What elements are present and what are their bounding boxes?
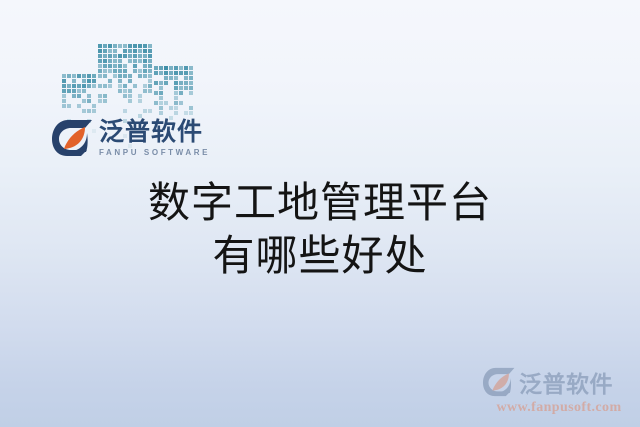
skyline-pixel	[108, 44, 112, 48]
skyline-pixel	[143, 69, 147, 73]
skyline-pixel	[128, 94, 132, 98]
skyline-pixel	[62, 104, 66, 108]
skyline-pixel	[103, 94, 107, 98]
brand-name-cn: 泛普软件	[99, 120, 210, 145]
skyline-pixel	[159, 86, 163, 90]
skyline-pixel	[123, 49, 127, 53]
skyline-pixel	[113, 74, 117, 78]
skyline-pixel	[143, 89, 147, 93]
skyline-pixel	[174, 71, 178, 75]
skyline-pixel	[148, 69, 152, 73]
skyline-pixel	[148, 79, 152, 83]
skyline-pixel	[133, 84, 137, 88]
skyline-pixel	[138, 49, 142, 53]
skyline-pixel	[72, 79, 76, 83]
skyline-pixel	[179, 81, 183, 85]
skyline-pixel	[154, 66, 158, 70]
skyline-pixel	[123, 89, 127, 93]
skyline-pixel	[148, 84, 152, 88]
skyline-pixel	[174, 66, 178, 70]
skyline-pixel	[82, 84, 86, 88]
skyline-pixel	[118, 54, 122, 58]
skyline-pixel	[138, 99, 142, 103]
skyline-pixel	[128, 79, 132, 83]
fanpu-logo-mark-icon	[52, 119, 94, 157]
skyline-pixel	[103, 54, 107, 58]
skyline-pixel	[133, 69, 137, 73]
skyline-pixel	[169, 71, 173, 75]
skyline-pixel	[62, 84, 66, 88]
skyline-pixel	[143, 54, 147, 58]
skyline-pixel	[159, 96, 163, 100]
skyline-pixel	[128, 44, 132, 48]
skyline-pixel	[128, 54, 132, 58]
skyline-pixel	[118, 84, 122, 88]
skyline-pixel	[92, 104, 96, 108]
skyline-pixel	[67, 84, 71, 88]
skyline-pixel	[174, 91, 178, 95]
skyline-pixel	[174, 76, 178, 80]
skyline-pixel	[98, 99, 102, 103]
skyline-pixel	[103, 99, 107, 103]
skyline-pixel	[189, 111, 193, 115]
skyline-pixel	[118, 44, 122, 48]
skyline-pixel	[148, 44, 152, 48]
skyline-pixel	[113, 54, 117, 58]
watermark-brand-name: 泛普软件	[519, 365, 613, 399]
skyline-pixel	[128, 59, 132, 63]
skyline-pixel	[118, 74, 122, 78]
page-title: 数字工地管理平台 有哪些好处	[0, 178, 640, 284]
skyline-pixel	[184, 71, 188, 75]
skyline-pixel	[133, 49, 137, 53]
skyline-pixel	[108, 69, 112, 73]
skyline-pixel	[148, 59, 152, 63]
skyline-pixel	[133, 64, 137, 68]
slide-canvas: 泛普软件 FANPU SOFTWARE 数字工地管理平台 有哪些好处 泛普软件 …	[0, 0, 640, 427]
skyline-pixel	[189, 81, 193, 85]
skyline-pixel	[92, 84, 96, 88]
skyline-pixel	[169, 66, 173, 70]
skyline-pixel	[174, 96, 178, 100]
pixel-city-skyline-icon	[62, 44, 182, 126]
skyline-pixel	[108, 84, 112, 88]
skyline-pixel	[62, 94, 66, 98]
skyline-pixel	[62, 89, 66, 93]
skyline-pixel	[189, 91, 193, 95]
skyline-pixel	[87, 109, 91, 113]
skyline-pixel	[113, 49, 117, 53]
skyline-pixel	[133, 44, 137, 48]
skyline-pixel	[118, 59, 122, 63]
skyline-pixel	[77, 74, 81, 78]
skyline-pixel	[98, 94, 102, 98]
skyline-pixel	[113, 44, 117, 48]
skyline-pixel	[87, 84, 91, 88]
skyline-pixel	[159, 81, 163, 85]
skyline-pixel	[128, 99, 132, 103]
skyline-pixel	[128, 49, 132, 53]
skyline-pixel	[138, 59, 142, 63]
skyline-pixel	[143, 49, 147, 53]
skyline-pixel	[138, 94, 142, 98]
skyline-pixel	[164, 81, 168, 85]
page-title-line-1: 数字工地管理平台	[0, 178, 640, 231]
skyline-pixel	[128, 89, 132, 93]
skyline-pixel	[123, 74, 127, 78]
skyline-pixel	[118, 79, 122, 83]
skyline-pixel	[123, 44, 127, 48]
skyline-pixel	[72, 94, 76, 98]
skyline-pixel	[62, 79, 66, 83]
skyline-pixel	[159, 111, 163, 115]
skyline-pixel	[179, 86, 183, 90]
skyline-pixel	[92, 109, 96, 113]
skyline-pixel	[154, 101, 158, 105]
skyline-pixel	[118, 69, 122, 73]
skyline-pixel	[92, 79, 96, 83]
skyline-pixel	[87, 74, 91, 78]
skyline-pixel	[159, 101, 163, 105]
skyline-pixel	[128, 74, 132, 78]
skyline-pixel	[118, 89, 122, 93]
skyline-pixel	[179, 71, 183, 75]
skyline-pixel	[98, 44, 102, 48]
skyline-pixel	[184, 81, 188, 85]
skyline-pixel	[159, 91, 163, 95]
skyline-pixel	[92, 74, 96, 78]
watermark-logo-row: 泛普软件	[483, 366, 635, 398]
skyline-pixel	[164, 101, 168, 105]
skyline-pixel	[184, 86, 188, 90]
skyline-pixel	[143, 59, 147, 63]
skyline-pixel	[138, 54, 142, 58]
skyline-pixel	[123, 94, 127, 98]
skyline-pixel	[133, 59, 137, 63]
skyline-pixel	[189, 106, 193, 110]
skyline-pixel	[174, 101, 178, 105]
skyline-pixel	[189, 76, 193, 80]
skyline-pixel	[98, 49, 102, 53]
skyline-pixel	[174, 81, 178, 85]
skyline-pixel	[82, 74, 86, 78]
skyline-pixel	[77, 89, 81, 93]
skyline-pixel	[98, 64, 102, 68]
skyline-pixel	[87, 79, 91, 83]
brand-logo: 泛普软件 FANPU SOFTWARE	[52, 119, 210, 157]
skyline-pixel	[184, 76, 188, 80]
skyline-pixel	[123, 69, 127, 73]
skyline-pixel	[108, 59, 112, 63]
skyline-pixel	[138, 69, 142, 73]
skyline-pixel	[87, 99, 91, 103]
skyline-pixel	[179, 91, 183, 95]
skyline-pixel	[98, 74, 102, 78]
brand-name-en: FANPU SOFTWARE	[99, 149, 210, 157]
skyline-pixel	[123, 109, 127, 113]
skyline-pixel	[72, 74, 76, 78]
skyline-pixel	[174, 86, 178, 90]
skyline-pixel	[143, 84, 147, 88]
skyline-pixel	[67, 104, 71, 108]
skyline-pixel	[143, 44, 147, 48]
skyline-pixel	[98, 59, 102, 63]
skyline-pixel	[103, 84, 107, 88]
brand-logo-text: 泛普软件 FANPU SOFTWARE	[99, 120, 210, 157]
skyline-pixel	[113, 69, 117, 73]
skyline-pixel	[108, 64, 112, 68]
skyline-pixel	[82, 89, 86, 93]
skyline-pixel	[164, 66, 168, 70]
skyline-pixel	[148, 54, 152, 58]
skyline-pixel	[174, 111, 178, 115]
skyline-pixel	[103, 69, 107, 73]
skyline-pixel	[123, 64, 127, 68]
skyline-pixel	[103, 64, 107, 68]
watermark: 泛普软件 www.fanpusoft.com	[483, 366, 635, 422]
skyline-pixel	[103, 44, 107, 48]
skyline-pixel	[87, 94, 91, 98]
skyline-pixel	[98, 54, 102, 58]
skyline-pixel	[143, 74, 147, 78]
skyline-pixel	[123, 54, 127, 58]
skyline-pixel	[184, 111, 188, 115]
skyline-pixel	[62, 74, 66, 78]
skyline-pixel	[189, 66, 193, 70]
skyline-pixel	[169, 106, 173, 110]
skyline-pixel	[72, 89, 76, 93]
skyline-pixel	[169, 76, 173, 80]
skyline-pixel	[108, 79, 112, 83]
skyline-pixel	[143, 64, 147, 68]
skyline-pixel	[108, 54, 112, 58]
skyline-pixel	[148, 49, 152, 53]
skyline-pixel	[159, 106, 163, 110]
skyline-pixel	[189, 71, 193, 75]
skyline-pixel	[138, 44, 142, 48]
page-title-line-2: 有哪些好处	[0, 231, 640, 284]
skyline-pixel	[67, 74, 71, 78]
skyline-pixel	[154, 71, 158, 75]
skyline-pixel	[103, 74, 107, 78]
skyline-pixel	[148, 89, 152, 93]
skyline-pixel	[148, 109, 152, 113]
skyline-pixel	[179, 66, 183, 70]
skyline-pixel	[154, 81, 158, 85]
skyline-pixel	[82, 109, 86, 113]
skyline-pixel	[113, 64, 117, 68]
skyline-pixel	[164, 76, 168, 80]
skyline-pixel	[108, 49, 112, 53]
skyline-pixel	[67, 89, 71, 93]
skyline-pixel	[184, 66, 188, 70]
skyline-pixel	[98, 69, 102, 73]
skyline-pixel	[77, 84, 81, 88]
skyline-pixel	[62, 99, 66, 103]
skyline-pixel	[82, 99, 86, 103]
skyline-pixel	[77, 104, 81, 108]
skyline-pixel	[72, 84, 76, 88]
skyline-pixel	[148, 64, 152, 68]
skyline-pixel	[77, 94, 81, 98]
watermark-url: www.fanpusoft.com	[483, 400, 635, 416]
skyline-pixel	[148, 74, 152, 78]
skyline-pixel	[118, 64, 122, 68]
skyline-pixel	[154, 91, 158, 95]
skyline-pixel	[164, 71, 168, 75]
skyline-pixel	[103, 49, 107, 53]
skyline-pixel	[159, 71, 163, 75]
skyline-pixel	[113, 59, 117, 63]
skyline-pixel	[123, 84, 127, 88]
skyline-pixel	[189, 86, 193, 90]
skyline-pixel	[138, 74, 142, 78]
skyline-pixel	[98, 84, 102, 88]
fanpu-logo-mark-watermark-icon	[483, 367, 516, 397]
skyline-pixel	[133, 54, 137, 58]
skyline-pixel	[174, 106, 178, 110]
skyline-pixel	[103, 59, 107, 63]
skyline-pixel	[159, 66, 163, 70]
skyline-pixel	[82, 79, 86, 83]
skyline-pixel	[143, 109, 147, 113]
skyline-pixel	[179, 101, 183, 105]
